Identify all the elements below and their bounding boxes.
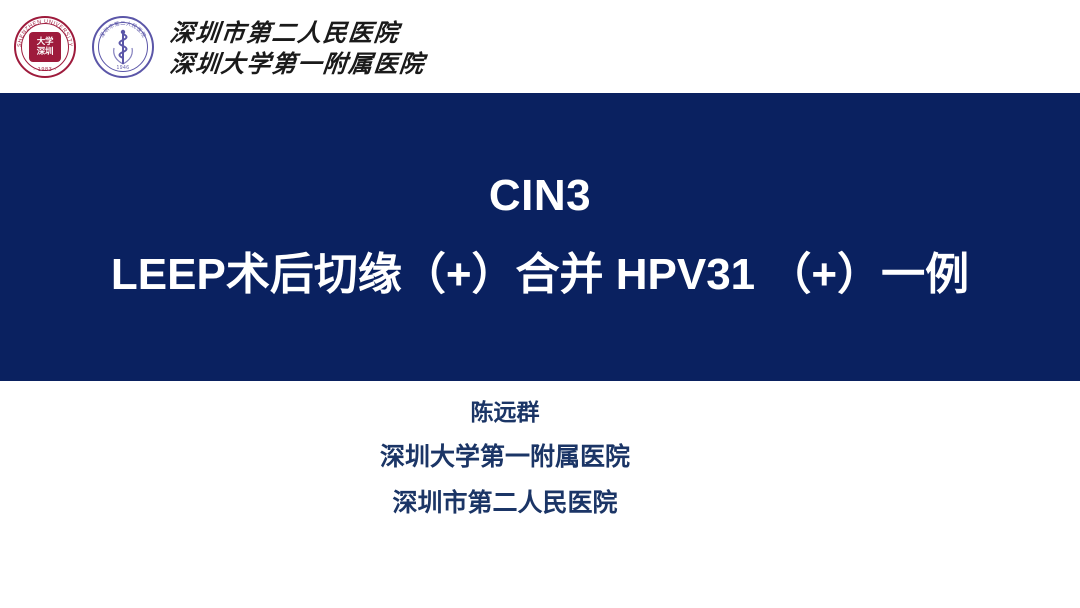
author-affiliation-block: 陈远群 深圳大学第一附属医院 深圳市第二人民医院 — [0, 398, 1010, 518]
author-name: 陈远群 — [471, 398, 540, 426]
page-subtitle: LEEP术后切缘（+）合并 HPV31 （+）一例 — [111, 246, 969, 304]
seal-year-label: · 1983 · — [12, 67, 78, 73]
hospital-name-calligraphy: 深圳市第二人民医院 深圳大学第一附属医院 — [170, 18, 425, 78]
calligraphy-line-1: 深圳市第二人民医院 — [168, 18, 426, 47]
seal-core-characters: 大学深圳 — [29, 32, 61, 62]
page-title: CIN3 — [489, 170, 591, 222]
title-banner: CIN3 LEEP术后切缘（+）合并 HPV31 （+）一例 — [0, 93, 1080, 381]
slide-header: SHENZHEN UNIVERSITY 大学深圳 · 1983 · 深圳市第二人… — [0, 0, 1080, 93]
shenzhen-second-peoples-hospital-logo-icon: 深圳市第二人民医院 1946 — [90, 14, 156, 80]
rod-of-asclepius-icon — [109, 26, 137, 68]
hospital-seal-year-label: 1946 — [90, 65, 156, 71]
shenzhen-university-logo-icon: SHENZHEN UNIVERSITY 大学深圳 · 1983 · — [12, 14, 78, 80]
affiliation-line-2: 深圳市第二人民医院 — [392, 488, 617, 518]
calligraphy-line-2: 深圳大学第一附属医院 — [168, 49, 426, 78]
affiliation-line-1: 深圳大学第一附属医院 — [380, 442, 630, 472]
slide-root: SHENZHEN UNIVERSITY 大学深圳 · 1983 · 深圳市第二人… — [0, 0, 1080, 608]
